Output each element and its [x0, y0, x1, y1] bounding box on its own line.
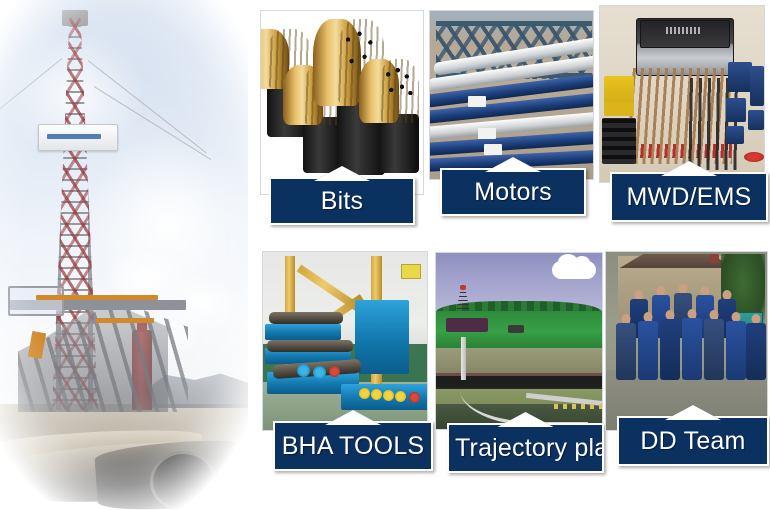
label-mwd-ems[interactable]: MWD/EMS	[610, 172, 768, 222]
blue-equipment-box	[748, 110, 764, 130]
card-dd-team[interactable]	[605, 251, 768, 431]
team-member	[616, 314, 636, 380]
bha-tool	[267, 340, 353, 352]
rig-crown-icon	[460, 285, 466, 290]
label-trajectory-plan-text: Trajectory plan	[449, 436, 602, 461]
bha-tools-photo	[262, 251, 428, 431]
black-tool-set	[602, 118, 636, 164]
wall-sign	[401, 264, 421, 279]
blue-equipment-box	[726, 126, 744, 144]
rig-handrail	[8, 286, 64, 316]
mud-motors-photo	[429, 10, 594, 180]
tool-case-lid	[640, 20, 730, 48]
tool-rack	[265, 324, 341, 340]
tool-collar	[395, 391, 406, 402]
tool-collar	[297, 364, 310, 377]
label-bits[interactable]: Bits	[269, 177, 415, 225]
roof-ornament	[710, 254, 719, 263]
label-dd-team[interactable]: DD Team	[617, 416, 769, 466]
perforation-markers	[554, 404, 602, 409]
pumpjack-icon	[508, 325, 524, 333]
team-member	[726, 312, 746, 380]
tool-collar	[329, 366, 340, 377]
blue-equipment-box	[750, 66, 764, 106]
tool-collar	[359, 388, 370, 399]
team-member	[704, 310, 724, 380]
team-member	[660, 310, 680, 380]
yellow-tool-tray	[604, 102, 634, 116]
rig-railing	[96, 318, 154, 323]
bha-tool	[269, 312, 343, 324]
red-ring-tool	[744, 152, 764, 162]
drill-bit	[379, 59, 419, 173]
card-motors[interactable]	[429, 10, 594, 180]
tool-rack	[355, 300, 409, 374]
tool-case-brand	[666, 27, 702, 34]
tool-collar	[409, 392, 420, 403]
tool-collar	[371, 389, 382, 400]
dd-team-photo	[605, 251, 768, 431]
drilling-rig-photo	[0, 0, 248, 510]
team-member	[638, 312, 658, 380]
slide-canvas: Bits	[0, 0, 770, 510]
label-bha-tools-text: BHA TOOLS	[282, 434, 425, 459]
casing-pipes	[0, 418, 248, 510]
rig-pad	[446, 318, 488, 332]
card-trajectory-plan[interactable]	[435, 252, 603, 430]
team-member	[682, 309, 702, 380]
blue-equipment-box	[728, 62, 752, 92]
card-bha-tools[interactable]	[262, 251, 428, 431]
mwd-ems-toolkit-photo	[599, 5, 765, 183]
label-bits-text: Bits	[321, 189, 363, 214]
yard-truss-rail	[436, 21, 592, 26]
label-bha-tools[interactable]: BHA TOOLS	[273, 421, 433, 471]
tool-collar	[313, 366, 326, 379]
label-motors-text: Motors	[474, 180, 552, 205]
label-trajectory-plan[interactable]: Trajectory plan	[447, 423, 604, 473]
team-member	[746, 314, 766, 380]
tool-collar	[383, 390, 394, 401]
card-mwd-ems[interactable]	[599, 5, 765, 183]
rig-traveling-block	[38, 124, 118, 151]
label-motors[interactable]: Motors	[440, 168, 586, 216]
services-grid: Bits	[255, 0, 770, 510]
blue-equipment-box	[726, 98, 746, 122]
label-dd-team-text: DD Team	[640, 429, 745, 454]
well-trajectory-illustration	[435, 252, 603, 430]
rig-walkway	[36, 295, 158, 300]
cloud-icon	[552, 261, 596, 279]
label-mwd-ems-text: MWD/EMS	[627, 185, 752, 210]
